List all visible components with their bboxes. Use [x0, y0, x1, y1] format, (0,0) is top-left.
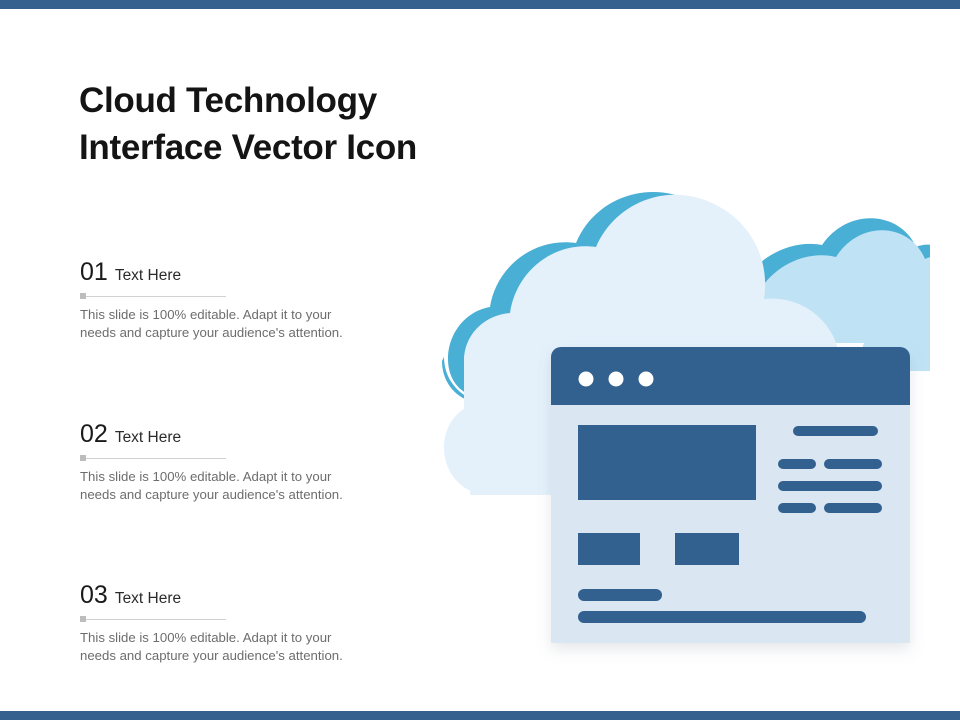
browser-hero-rectangle: [578, 425, 756, 500]
text-block-03-body: This slide is 100% editable. Adapt it to…: [80, 629, 380, 665]
text-block-01-body: This slide is 100% editable. Adapt it to…: [80, 306, 380, 342]
text-block-02-label: Text Here: [115, 429, 181, 447]
browser-dot-2-icon: [609, 372, 624, 387]
divider-dot-icon: [80, 293, 86, 299]
text-block-01: 01 Text Here This slide is 100% editable…: [80, 258, 400, 342]
text-block-03-divider: [80, 616, 226, 623]
text-block-02-body: This slide is 100% editable. Adapt it to…: [80, 468, 380, 504]
browser-window: [551, 347, 910, 643]
cloud-technology-illustration: [430, 185, 930, 665]
browser-header-bar: [551, 347, 910, 405]
browser-side-row-3-long: [824, 503, 882, 513]
slide-canvas: Cloud Technology Interface Vector Icon 0…: [0, 0, 960, 720]
bottom-accent-band: [0, 711, 960, 720]
browser-dot-1-icon: [579, 372, 594, 387]
divider-dot-icon: [80, 455, 86, 461]
browser-tile-left: [578, 533, 640, 565]
text-block-01-divider: [80, 293, 226, 300]
browser-footer-bar-long: [578, 611, 866, 623]
text-block-01-number: 01: [80, 258, 108, 287]
text-block-02-number: 02: [80, 420, 108, 449]
text-block-02-divider: [80, 455, 226, 462]
top-accent-band: [0, 0, 960, 9]
divider-line: [81, 458, 226, 459]
browser-footer-bar-short: [578, 589, 662, 601]
text-block-02: 02 Text Here This slide is 100% editable…: [80, 420, 400, 504]
browser-side-row-1-short: [778, 459, 816, 469]
browser-side-row-1-long: [824, 459, 882, 469]
text-block-01-heading: 01 Text Here: [80, 258, 400, 284]
divider-line: [81, 296, 226, 297]
text-block-03-label: Text Here: [115, 590, 181, 608]
text-block-03: 03 Text Here This slide is 100% editable…: [80, 581, 400, 665]
text-block-03-heading: 03 Text Here: [80, 581, 400, 607]
browser-tile-right: [675, 533, 739, 565]
browser-side-row-3-short: [778, 503, 816, 513]
divider-line: [81, 619, 226, 620]
browser-side-row-2-full: [778, 481, 882, 491]
browser-dot-3-icon: [639, 372, 654, 387]
text-block-01-label: Text Here: [115, 267, 181, 285]
browser-side-bar-top: [793, 426, 878, 436]
text-block-03-number: 03: [80, 581, 108, 610]
page-title: Cloud Technology Interface Vector Icon: [79, 78, 549, 171]
divider-dot-icon: [80, 616, 86, 622]
text-block-02-heading: 02 Text Here: [80, 420, 400, 446]
